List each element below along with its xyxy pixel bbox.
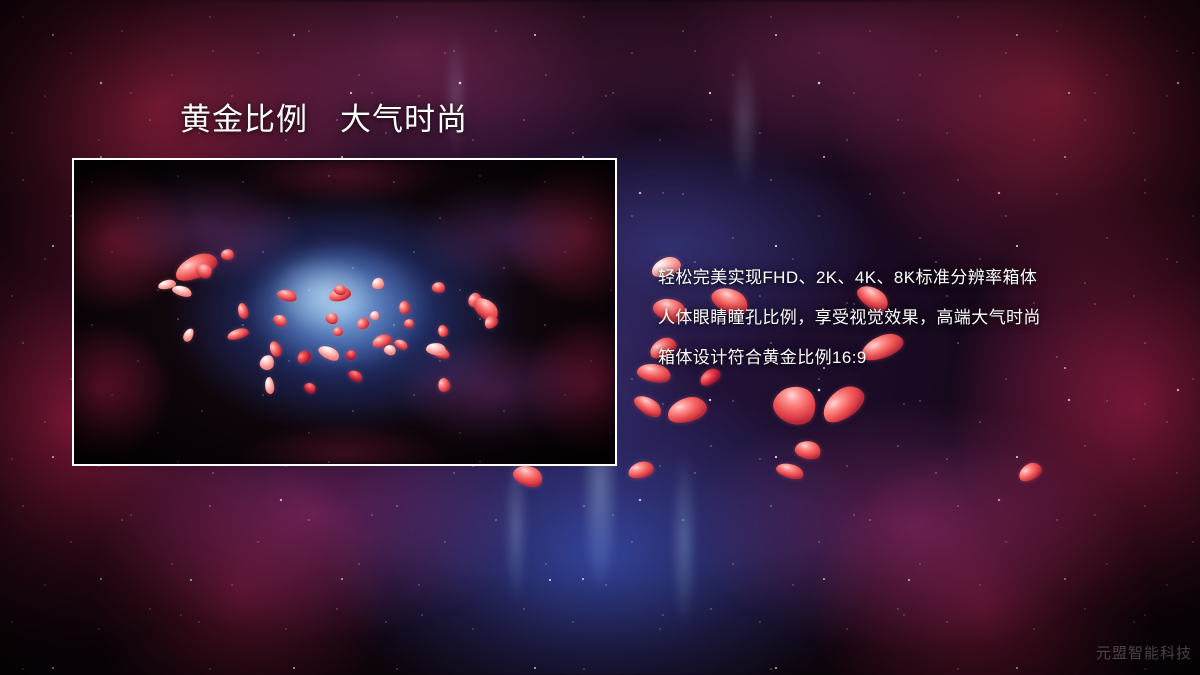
product-photo-image	[74, 160, 615, 464]
rose-petal	[816, 380, 870, 429]
rose-petal	[627, 459, 656, 480]
product-photo-frame	[72, 158, 617, 466]
rose-petal	[631, 391, 665, 421]
slide-title: 黄金比例 大气时尚	[180, 101, 468, 140]
feature-line-2: 人体眼睛瞳孔比例，享受视觉效果，高端大气时尚	[658, 298, 1178, 338]
feature-description-block: 轻松完美实现FHD、2K、4K、8K标准分辨率箱体 人体眼睛瞳孔比例，享受视觉效…	[658, 258, 1178, 378]
company-watermark: 元盟智能科技	[1096, 642, 1192, 663]
feature-line-1: 轻松完美实现FHD、2K、4K、8K标准分辨率箱体	[658, 258, 1178, 298]
rose-petal	[775, 460, 806, 482]
rose-petal	[1016, 460, 1045, 485]
rose-petal	[768, 379, 822, 431]
rose-petal	[793, 438, 823, 462]
feature-line-3: 箱体设计符合黄金比例16:9	[658, 338, 1178, 378]
rose-petal	[665, 394, 710, 427]
presentation-slide: 黄金比例 大气时尚 轻松完美实现FHD、2K、4K、8K标准分辨率箱体 人体眼睛…	[0, 0, 1200, 675]
photo-vignette	[74, 160, 615, 464]
